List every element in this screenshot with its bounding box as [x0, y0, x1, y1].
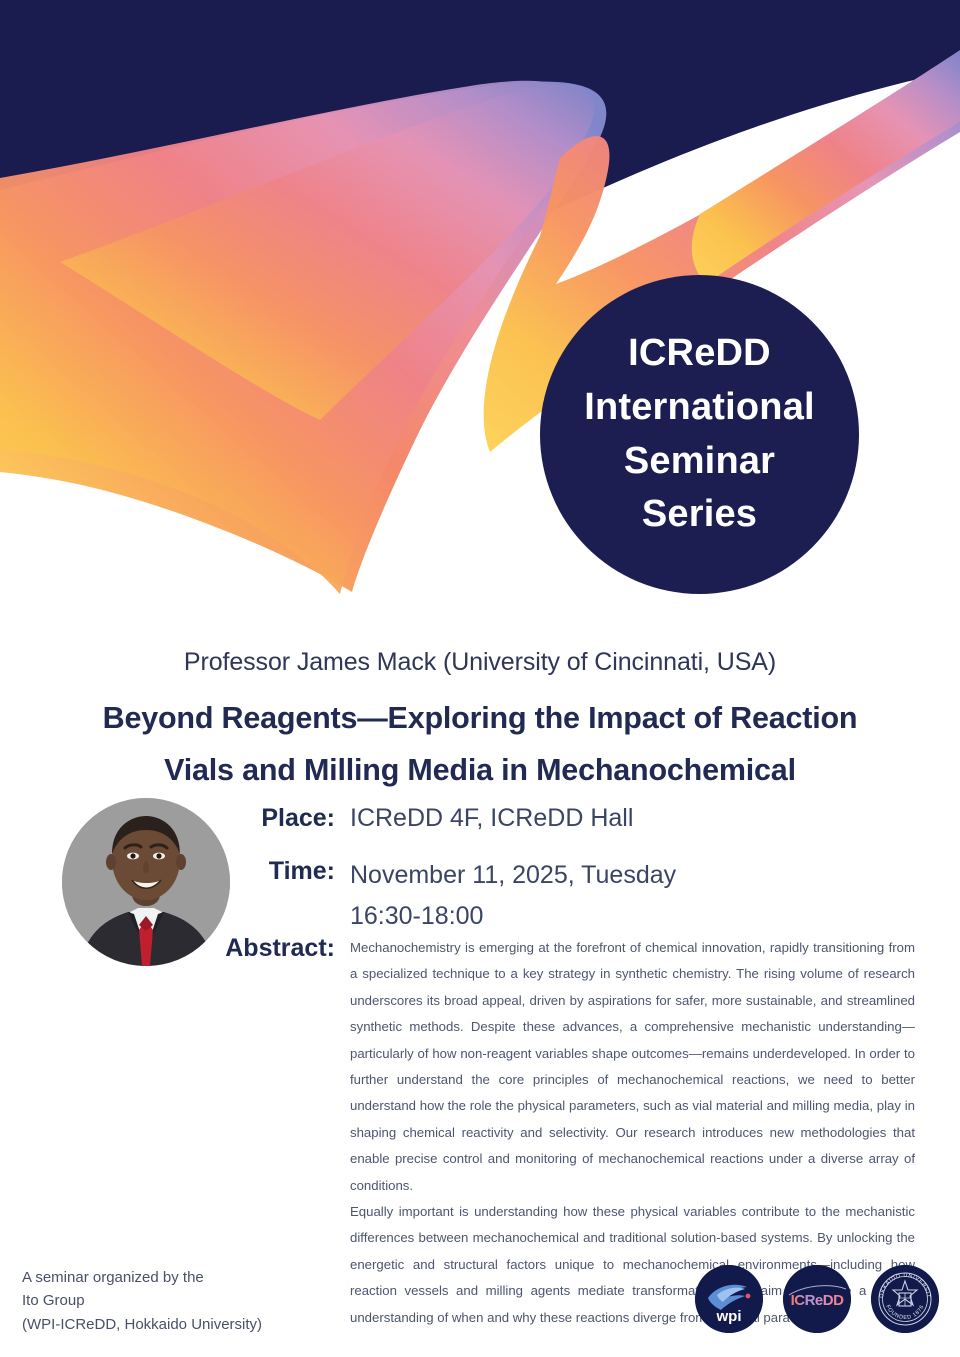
- wave-crest: [60, 84, 594, 420]
- wave-body-left: [0, 81, 587, 594]
- talk-title-line-1: Beyond Reagents—Exploring the Impact of …: [50, 692, 910, 744]
- wave-petal-main: [0, 82, 606, 592]
- svg-text:ICReDD: ICReDD: [791, 1292, 845, 1309]
- place-label: Place:: [150, 803, 335, 834]
- icredd-logo-mark: ICReDD: [783, 1265, 851, 1333]
- svg-text:wpi: wpi: [716, 1308, 742, 1325]
- place-value: ICReDD 4F, ICReDD Hall: [335, 803, 850, 834]
- icredd-logo: ICReDD: [783, 1265, 851, 1333]
- talk-title-line-2: Vials and Milling Media in Mechanochemic…: [50, 744, 910, 796]
- talk-title: Beyond Reagents—Exploring the Impact of …: [50, 692, 910, 797]
- badge-line-3: Seminar: [624, 435, 775, 489]
- speaker-name-affiliation: Professor James Mack (University of Cinc…: [0, 648, 960, 677]
- footer-logo-group: wpi ICReDD: [695, 1265, 939, 1333]
- wpi-logo-mark: wpi: [695, 1265, 763, 1333]
- badge-line-4: Series: [642, 488, 757, 542]
- badge-line-2: International: [584, 381, 815, 435]
- hokkaido-university-logo: HOKKAIDO UNIVERSITY FOUNDED 1876: [871, 1265, 939, 1333]
- seminar-poster: ICReDD International Seminar Series Prof…: [0, 0, 960, 1357]
- hokkaido-university-logo-mark: HOKKAIDO UNIVERSITY FOUNDED 1876: [871, 1265, 939, 1333]
- organizer-note: A seminar organized by the Ito Group (WP…: [22, 1266, 262, 1336]
- abstract-label: Abstract:: [150, 935, 335, 963]
- abstract-paragraph-1: Mechanochemistry is emerging at the fore…: [350, 935, 915, 1199]
- time-date: November 11, 2025, Tuesday: [350, 855, 850, 896]
- badge-line-1: ICReDD: [628, 327, 771, 381]
- place-row: Place: ICReDD 4F, ICReDD Hall: [150, 803, 850, 834]
- time-value: November 11, 2025, Tuesday 16:30-18:00: [335, 855, 850, 936]
- time-label: Time:: [150, 855, 335, 888]
- time-row: Time: November 11, 2025, Tuesday 16:30-1…: [150, 855, 850, 936]
- wave-tail-upper-right: [692, 50, 960, 284]
- seminar-series-badge: ICReDD International Seminar Series: [540, 275, 859, 594]
- time-hours: 16:30-18:00: [350, 896, 850, 937]
- wpi-logo: wpi: [695, 1265, 763, 1333]
